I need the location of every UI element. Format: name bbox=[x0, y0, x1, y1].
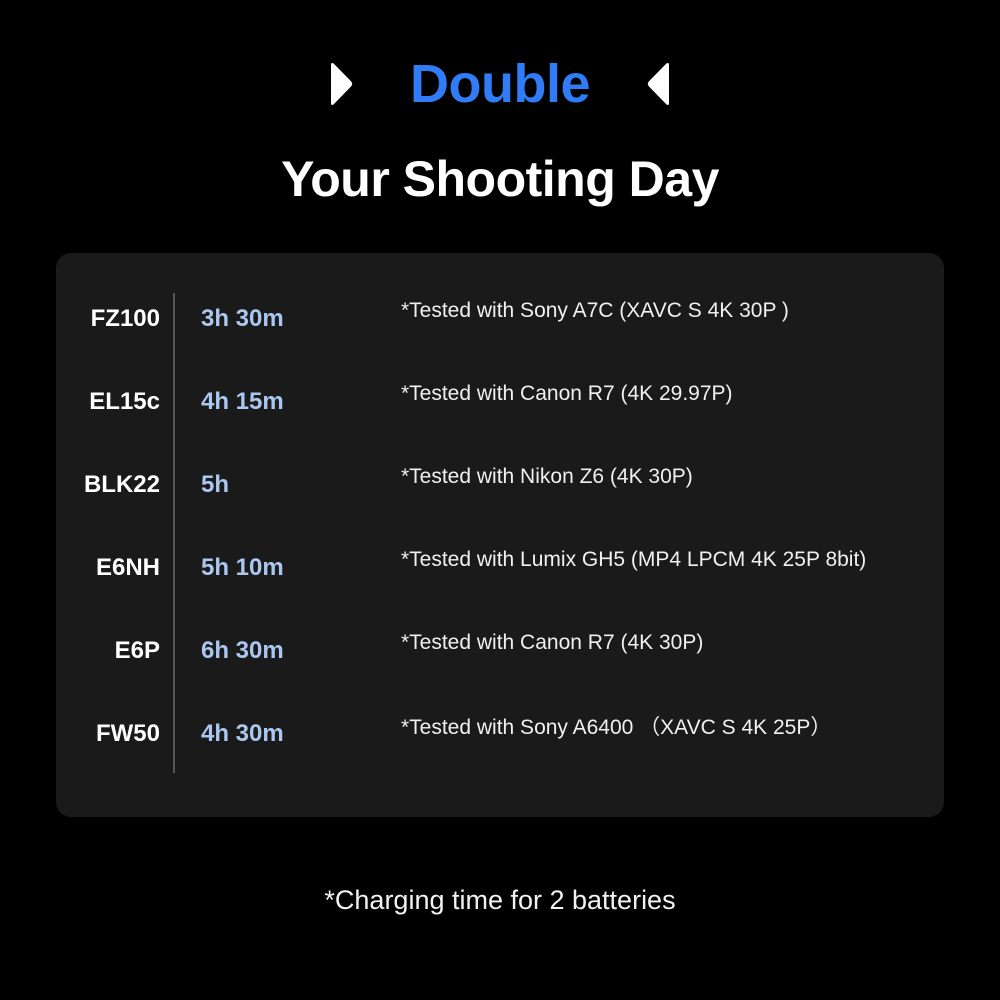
battery-model-label: EL15c bbox=[56, 388, 160, 416]
battery-model-label: FW50 bbox=[56, 720, 160, 748]
test-condition-note: *Tested with Nikon Z6 (4K 30P) bbox=[401, 465, 944, 489]
charging-time-value: 4h 30m bbox=[201, 720, 401, 748]
table-row: E6NH 5h 10m *Tested with Lumix GH5 (MP4 … bbox=[56, 526, 944, 609]
battery-model-label: E6P bbox=[56, 637, 160, 665]
charging-time-value: 5h 10m bbox=[201, 554, 401, 582]
play-triangle-left-icon bbox=[646, 61, 672, 107]
battery-charging-table-panel: FZ100 3h 30m *Tested with Sony A7C (XAVC… bbox=[56, 253, 944, 817]
battery-model-label: E6NH bbox=[56, 554, 160, 582]
test-condition-note: *Tested with Sony A6400 （XAVC S 4K 25P） bbox=[401, 711, 944, 741]
play-triangle-right-icon bbox=[328, 61, 354, 107]
test-condition-note: *Tested with Canon R7 (4K 29.97P) bbox=[401, 382, 944, 406]
table-rows: FZ100 3h 30m *Tested with Sony A7C (XAVC… bbox=[56, 253, 944, 817]
title-row: Double bbox=[0, 52, 1000, 116]
header: Double Your Shooting Day bbox=[0, 0, 1000, 204]
charging-time-value: 6h 30m bbox=[201, 637, 401, 665]
battery-model-label: FZ100 bbox=[56, 305, 160, 333]
page-title-highlight: Double bbox=[410, 57, 590, 111]
table-row: E6P 6h 30m *Tested with Canon R7 (4K 30P… bbox=[56, 609, 944, 692]
test-condition-note: *Tested with Canon R7 (4K 30P) bbox=[401, 631, 944, 655]
table-row: BLK22 5h *Tested with Nikon Z6 (4K 30P) bbox=[56, 443, 944, 526]
table-row: FZ100 3h 30m *Tested with Sony A7C (XAVC… bbox=[56, 277, 944, 360]
charging-time-value: 5h bbox=[201, 471, 401, 499]
charging-time-value: 3h 30m bbox=[201, 305, 401, 333]
footer-note: *Charging time for 2 batteries bbox=[0, 885, 1000, 916]
test-condition-note: *Tested with Lumix GH5 (MP4 LPCM 4K 25P … bbox=[401, 548, 944, 572]
table-row: EL15c 4h 15m *Tested with Canon R7 (4K 2… bbox=[56, 360, 944, 443]
page-subtitle: Your Shooting Day bbox=[0, 154, 1000, 204]
table-row: FW50 4h 30m *Tested with Sony A6400 （XAV… bbox=[56, 692, 944, 775]
charging-time-value: 4h 15m bbox=[201, 388, 401, 416]
test-condition-note: *Tested with Sony A7C (XAVC S 4K 30P ) bbox=[401, 299, 944, 323]
battery-model-label: BLK22 bbox=[56, 471, 160, 499]
